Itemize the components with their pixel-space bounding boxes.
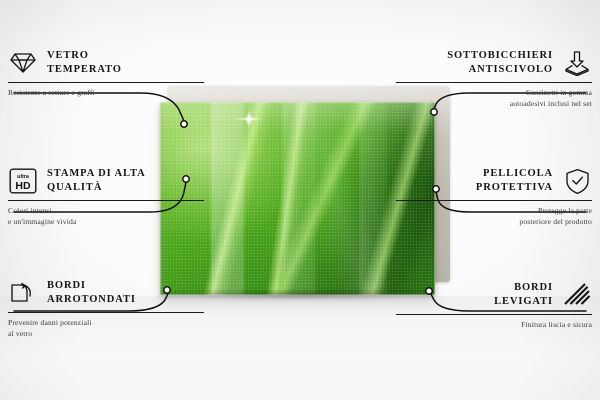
feature-subtitle: Protegge la parte posteriore del prodott… xyxy=(396,205,592,227)
feature-divider xyxy=(8,82,204,83)
feature-title-line2: TEMPERATO xyxy=(47,64,122,75)
feature-subtitle-line1: Cuscinetti in gomma xyxy=(526,88,592,97)
feature-title-line2: ANTISCIVOLO xyxy=(469,64,553,75)
ultra-hd-badge-icon: ultra HD xyxy=(8,166,38,196)
feature-title: SOTTOBICCHIERI ANTISCIVOLO xyxy=(447,49,553,77)
feature-subtitle: Cuscinetti in gomma autoadesivi inclusi … xyxy=(396,87,592,109)
feature-divider xyxy=(8,200,204,201)
diamond-gem-icon xyxy=(8,48,38,78)
feature-divider xyxy=(396,200,592,201)
feature-subtitle-line2: autoadesivi inclusi nel set xyxy=(510,99,592,108)
feature-subtitle: Finitura liscia e sicura xyxy=(396,319,592,330)
feature-subtitle-line2: e un'immagine vivida xyxy=(8,217,76,226)
feature-bordi-arrotondati: BORDI ARROTONDATI Prevenire danni potenz… xyxy=(8,278,204,339)
svg-text:HD: HD xyxy=(15,180,31,192)
feature-subtitle-line1: Colori intensi xyxy=(8,206,52,215)
feature-header: ultra HD STAMPA DI ALTA QUALITÀ xyxy=(8,166,204,196)
feature-divider xyxy=(396,314,592,315)
feature-title-line1: BORDI xyxy=(47,280,86,291)
feature-header: VETRO TEMPERATO xyxy=(8,48,204,78)
product-infographic: VETRO TEMPERATO Resistente a rotture e g… xyxy=(0,0,600,400)
feature-title-line1: BORDI xyxy=(514,282,553,293)
feature-title-line1: VETRO xyxy=(47,50,89,61)
feature-subtitle-line2: al vetro xyxy=(8,329,32,338)
feature-vetro-temperato: VETRO TEMPERATO Resistente a rotture e g… xyxy=(8,48,204,98)
feature-title: BORDI LEVIGATI xyxy=(494,281,553,309)
feature-title-line1: STAMPA DI ALTA xyxy=(47,168,146,179)
feature-subtitle: Resistente a rotture e graffi xyxy=(8,87,204,98)
feature-title: STAMPA DI ALTA QUALITÀ xyxy=(47,167,146,195)
feature-stampa-alta-qualita: ultra HD STAMPA DI ALTA QUALITÀ Colori i… xyxy=(8,166,204,227)
feature-sottobicchieri-antiscivolo: SOTTOBICCHIERI ANTISCIVOLO Cuscinetti in… xyxy=(396,48,592,109)
feature-subtitle-line1: Protegge la parte xyxy=(538,206,592,215)
feature-title-line1: PELLICOLA xyxy=(483,168,553,179)
feature-bordi-levigati: BORDI LEVIGATI Finitura liscia e sicura xyxy=(396,280,592,330)
feature-header: BORDI ARROTONDATI xyxy=(8,278,204,308)
diagonal-stripes-icon xyxy=(562,280,592,310)
feature-title: PELLICOLA PROTETTIVA xyxy=(476,167,553,195)
feature-subtitle-line1: Prevenire danni potenziali xyxy=(8,318,92,327)
feature-subtitle-line2: posteriore del prodotto xyxy=(519,217,592,226)
feature-title-line2: ARROTONDATI xyxy=(47,294,136,305)
feature-title-line2: LEVIGATI xyxy=(494,296,553,307)
rounded-corner-icon xyxy=(8,278,38,308)
feature-header: SOTTOBICCHIERI ANTISCIVOLO xyxy=(396,48,592,78)
feature-title-line2: PROTETTIVA xyxy=(476,182,553,193)
feature-divider xyxy=(396,82,592,83)
feature-pellicola-protettiva: PELLICOLA PROTETTIVA Protegge la parte p… xyxy=(396,166,592,227)
arrow-down-pad-icon xyxy=(562,48,592,78)
feature-title: VETRO TEMPERATO xyxy=(47,49,122,77)
feature-title: BORDI ARROTONDATI xyxy=(47,279,136,307)
feature-header: PELLICOLA PROTETTIVA xyxy=(396,166,592,196)
feature-title-line2: QUALITÀ xyxy=(47,182,102,193)
shield-check-icon xyxy=(562,166,592,196)
feature-divider xyxy=(8,312,204,313)
feature-header: BORDI LEVIGATI xyxy=(396,280,592,310)
feature-title-line1: SOTTOBICCHIERI xyxy=(447,50,553,61)
feature-subtitle: Prevenire danni potenziali al vetro xyxy=(8,317,204,339)
feature-subtitle: Colori intensi e un'immagine vivida xyxy=(8,205,204,227)
